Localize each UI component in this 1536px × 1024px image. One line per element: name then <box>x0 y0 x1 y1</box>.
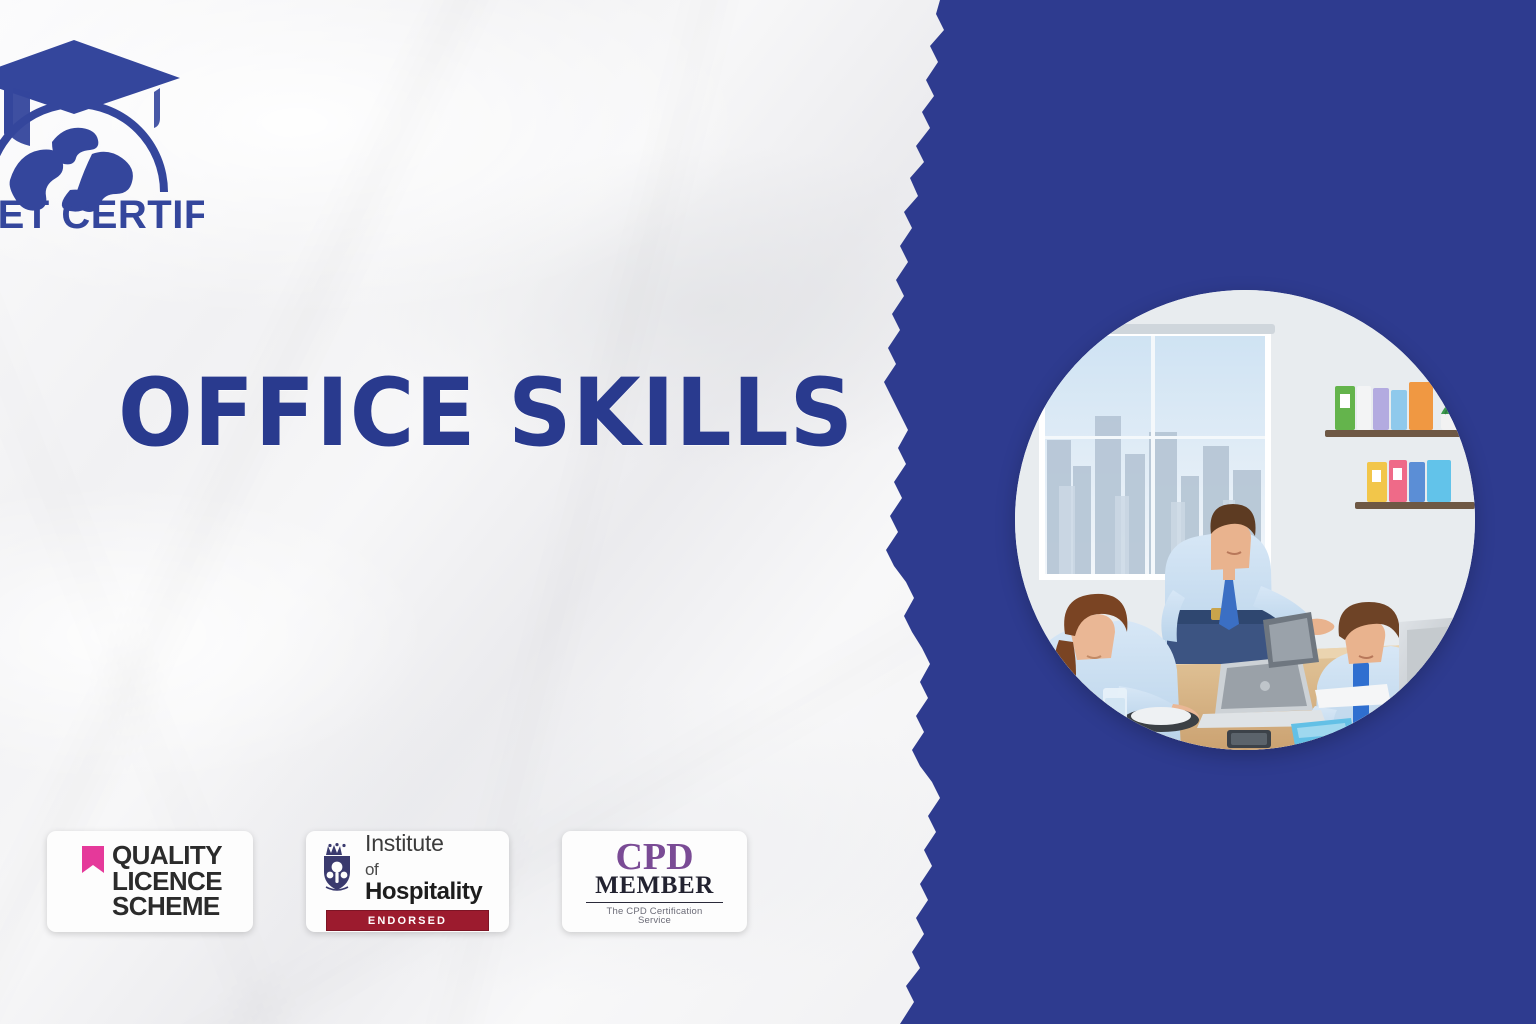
ioh-hospitality: Hospitality <box>365 878 482 905</box>
get-certify-logo[interactable]: GET CERTIFY <box>0 22 204 237</box>
qls-line-3: SCHEME <box>112 894 222 920</box>
logo-wordmark: GET CERTIFY <box>0 193 204 237</box>
cpd-tagline-line-2: Service <box>572 916 737 926</box>
ioh-line-1: Institute <box>365 832 499 855</box>
qls-line-1: QUALITY <box>112 843 222 869</box>
cpd-wordmark: CPD <box>572 838 737 876</box>
badge-quality-licence-scheme[interactable]: QUALITY LICENCE SCHEME <box>47 831 253 932</box>
crest-icon <box>316 843 358 893</box>
desktop-monitor <box>1399 616 1475 742</box>
badge-institute-of-hospitality[interactable]: Institute of Hospitality ENDORSED <box>306 831 509 932</box>
qls-wordmark: QUALITY LICENCE SCHEME <box>112 843 222 920</box>
cpd-member-label: MEMBER <box>572 873 737 898</box>
ioh-of: of <box>365 860 378 879</box>
badge-cpd-member[interactable]: CPD MEMBER The CPD Certification Service <box>562 831 747 932</box>
office-team-photo <box>1015 290 1475 750</box>
office-scene-illustration <box>1015 290 1475 750</box>
ioh-wordmark: Institute of Hospitality <box>365 832 499 904</box>
page-title: OFFICE SKILLS <box>118 367 854 461</box>
graduation-cap-globe-icon <box>0 40 180 212</box>
cpd-tagline: The CPD Certification Service <box>572 907 737 926</box>
ioh-endorsed-banner: ENDORSED <box>326 910 489 931</box>
ioh-line-2: of Hospitality <box>365 856 499 904</box>
bookmark-icon <box>82 846 104 873</box>
poster-canvas: GET CERTIFY OFFICE SKILLS QUALITY LICENC… <box>0 0 1536 1024</box>
accreditation-badges: QUALITY LICENCE SCHEME <box>47 831 747 932</box>
cpd-divider <box>586 902 723 903</box>
